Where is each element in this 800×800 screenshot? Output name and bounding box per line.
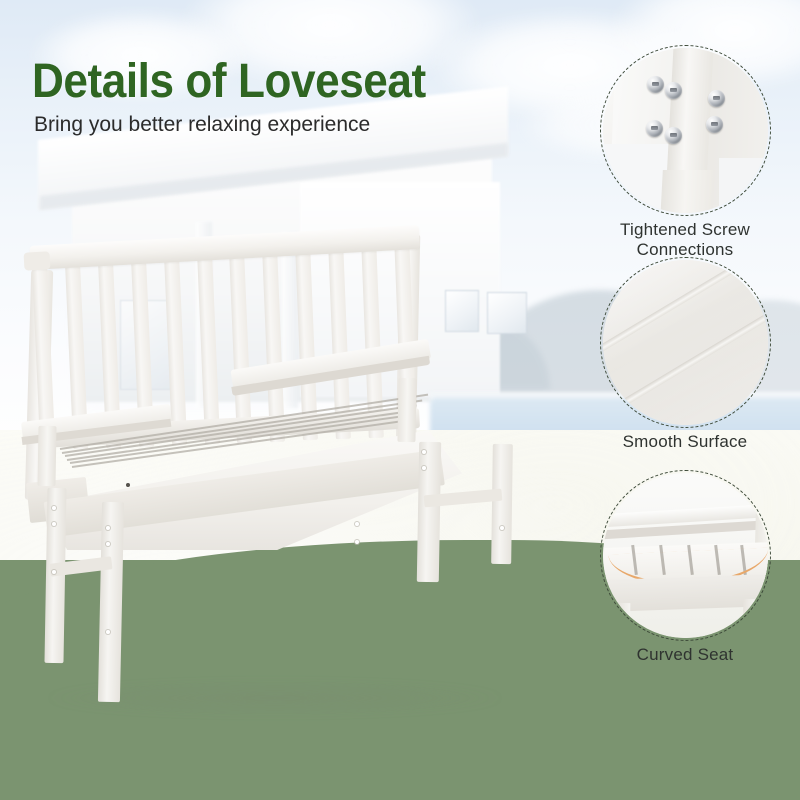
detail-image-smooth-surface: [603, 260, 768, 425]
bench-screw: [500, 526, 504, 530]
bench-screw: [52, 506, 56, 510]
detail-caption-line1: Curved Seat: [570, 645, 800, 665]
bench-screw-dark: [126, 483, 130, 487]
bench-leg-front-left: [98, 502, 124, 702]
loveseat-bench: [0, 230, 600, 700]
screw-icon: [665, 82, 682, 99]
detail-image-curved-seat: [603, 473, 768, 638]
detail-item-smooth-surface: Smooth Surface: [570, 260, 800, 452]
bench-screw: [106, 542, 110, 546]
bench-leg-back-right: [491, 444, 513, 564]
bench-screw: [106, 630, 110, 634]
screw-icon: [646, 120, 663, 137]
bench-screw: [422, 466, 426, 470]
detail-item-tightened-screw-connections: Tightened Screw Connections: [570, 48, 800, 260]
surface-sheen: [603, 260, 768, 425]
bench-screw: [106, 526, 110, 530]
detail-caption-screws: Tightened Screw Connections: [570, 220, 800, 260]
detail-circle-smooth-surface: [603, 260, 768, 425]
detail-caption-smooth-surface: Smooth Surface: [570, 432, 800, 452]
bench-screw: [355, 540, 359, 544]
detail-circle-curved-seat: [603, 473, 768, 638]
bench-screw: [52, 522, 56, 526]
screw-icon: [708, 90, 725, 107]
product-detail-infographic: Details of Loveseat Bring you better rel…: [0, 0, 800, 800]
detail-caption-line1: Tightened Screw: [570, 220, 800, 240]
screw-icon: [706, 116, 723, 133]
detail-caption-line2: Connections: [570, 240, 800, 260]
page-title: Details of Loveseat: [32, 54, 426, 109]
screw-icon: [647, 76, 664, 93]
bench-arm-post-left: [37, 426, 56, 486]
page-subtitle: Bring you better relaxing experience: [34, 113, 370, 137]
detail-item-curved-seat: Curved Seat: [570, 473, 800, 665]
screw-gap-left: [603, 144, 669, 213]
bench-leg-front-right: [417, 442, 441, 582]
detail-callout-column: Tightened Screw Connections Smooth Surfa…: [570, 0, 800, 800]
bench-screw: [355, 522, 359, 526]
bench-top-rail-cap: [24, 251, 51, 270]
bench-screw: [422, 450, 426, 454]
curved-seat-leg-right: [742, 599, 756, 638]
screw-icon: [665, 127, 682, 144]
detail-image-screws: [603, 48, 768, 213]
screw-lower-post: [659, 170, 715, 213]
screw-gap-right: [719, 158, 768, 213]
detail-circle-screws: [603, 48, 768, 213]
bench-back-slat: [196, 249, 219, 444]
bench-screw: [52, 570, 56, 574]
detail-caption-curved-seat: Curved Seat: [570, 645, 800, 665]
bench-back-slat: [229, 247, 252, 443]
bench-back-slat: [262, 246, 285, 442]
detail-caption-line1: Smooth Surface: [570, 432, 800, 452]
curved-seat-leg-left: [616, 603, 630, 638]
bench-arm-post-right: [397, 378, 416, 442]
